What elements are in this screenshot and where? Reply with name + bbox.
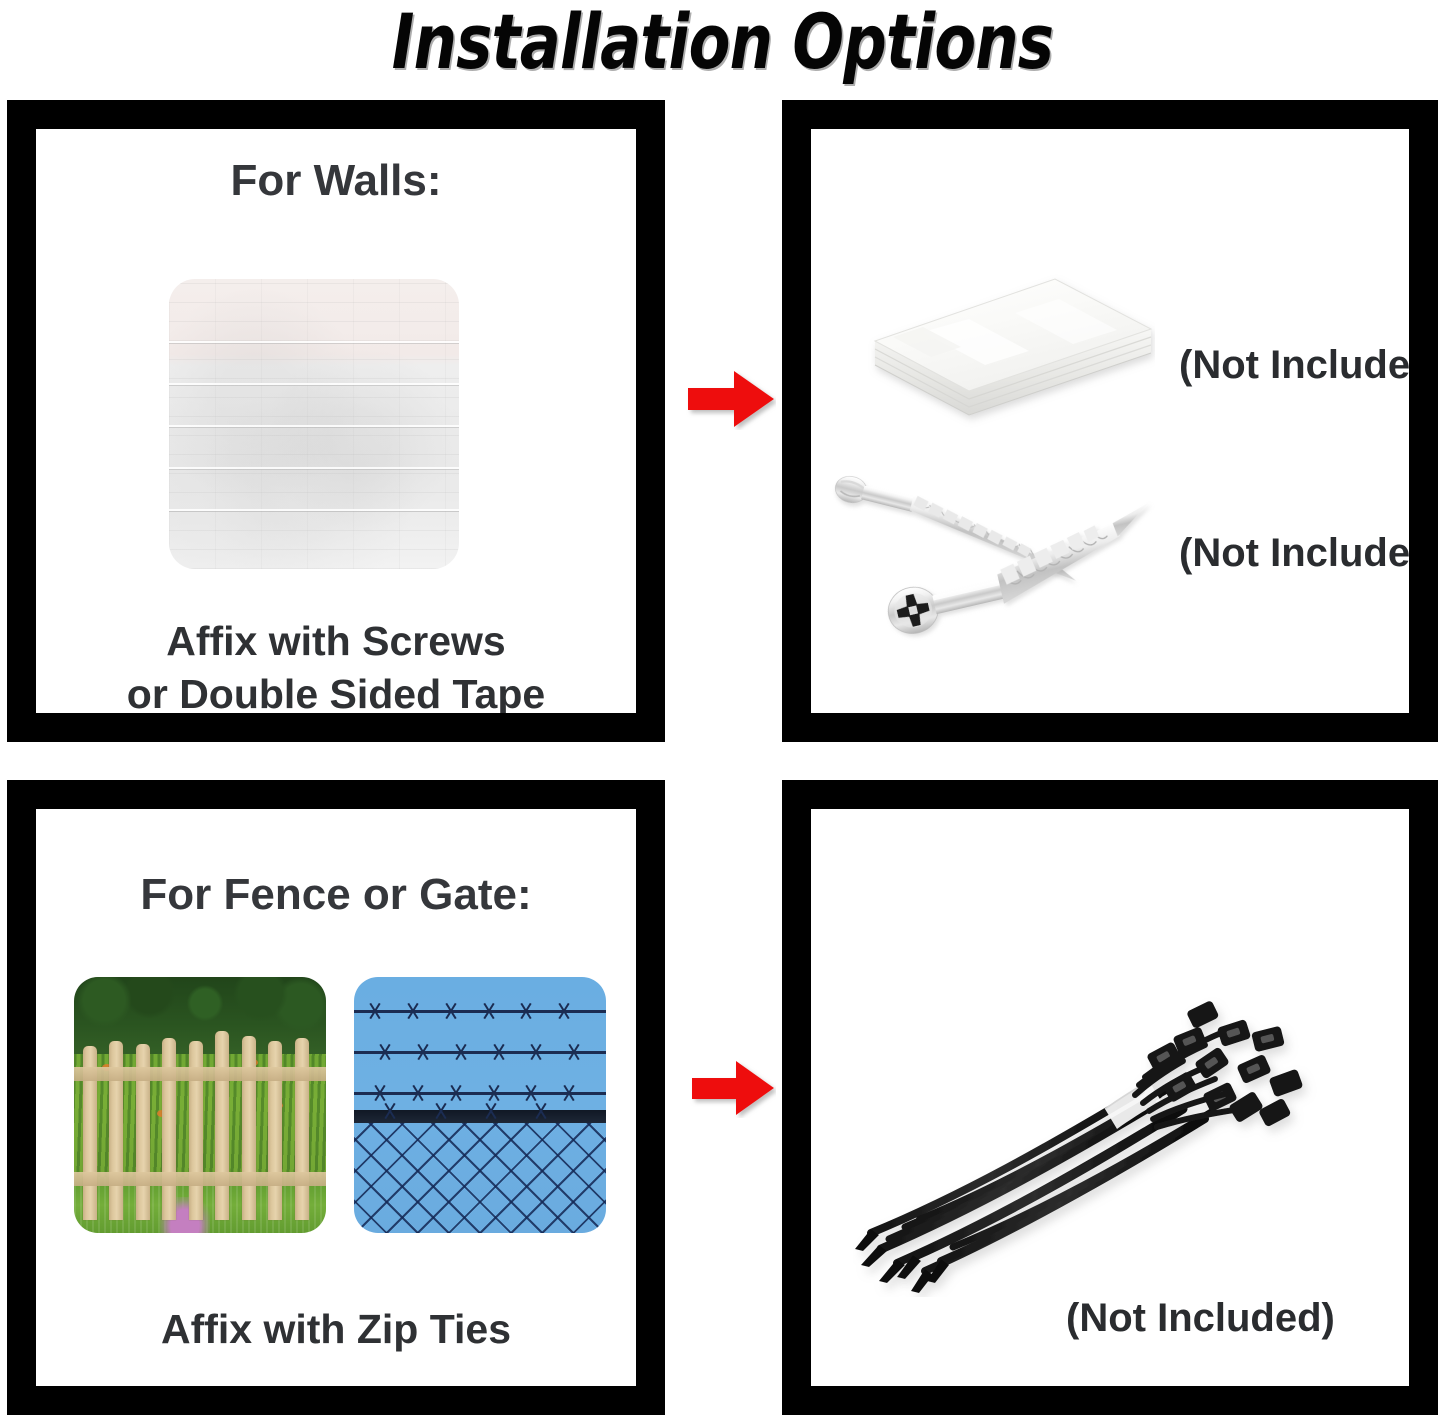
panel-zip-ties: (Not Included) [782,780,1438,1415]
panel-for-fence-or-gate-content: For Fence or Gate: [36,809,636,1386]
mortar-line [169,425,459,427]
mortar-line [169,509,459,511]
screw-pair [827,459,1177,669]
panel-wall-hardware-content: (Not Included) [811,129,1409,713]
panel-for-fence-caption: Affix with Zip Ties [36,1304,636,1354]
chain-link-mesh [354,1115,606,1233]
panel-for-fence-heading: For Fence or Gate: [36,869,636,921]
panel-for-walls: For Walls: Affix with Screws or Double S… [7,100,665,742]
arrow-fence-to-ziptie [690,1058,776,1118]
infographic-canvas: Installation Options For Walls: Affix wi… [0,0,1445,1422]
label-not-included-tape: (Not Included) [1179,341,1409,389]
screw-bottom [877,503,1166,639]
panel-wall-hardware: (Not Included) [782,100,1438,742]
mortar-line [169,383,459,385]
brick-shading [169,279,459,569]
label-not-included-zip-ties: (Not Included) [1066,1294,1335,1342]
panel-zip-ties-content: (Not Included) [811,809,1409,1386]
panel-for-walls-caption-line2: or Double Sided Tape [36,669,636,713]
panel-for-fence-or-gate: For Fence or Gate: [7,780,665,1415]
page-title: Installation Options [145,0,1301,88]
black-zip-tie-bundle [853,927,1373,1297]
double-sided-tape-stack [865,237,1155,437]
white-brick-wall-photo [169,279,459,569]
arrow-walls-to-hardware [686,368,776,430]
panel-for-walls-content: For Walls: Affix with Screws or Double S… [36,129,636,713]
panel-for-walls-heading: For Walls: [36,155,636,207]
wooden-picket-fence-photo [74,977,326,1233]
mortar-line [169,467,459,469]
panel-for-walls-caption-line1: Affix with Screws [36,616,636,666]
mortar-line [169,341,459,343]
chain-link-barbed-wire-fence-photo [354,977,606,1233]
label-not-included-screws: (Not Included) [1179,529,1409,577]
